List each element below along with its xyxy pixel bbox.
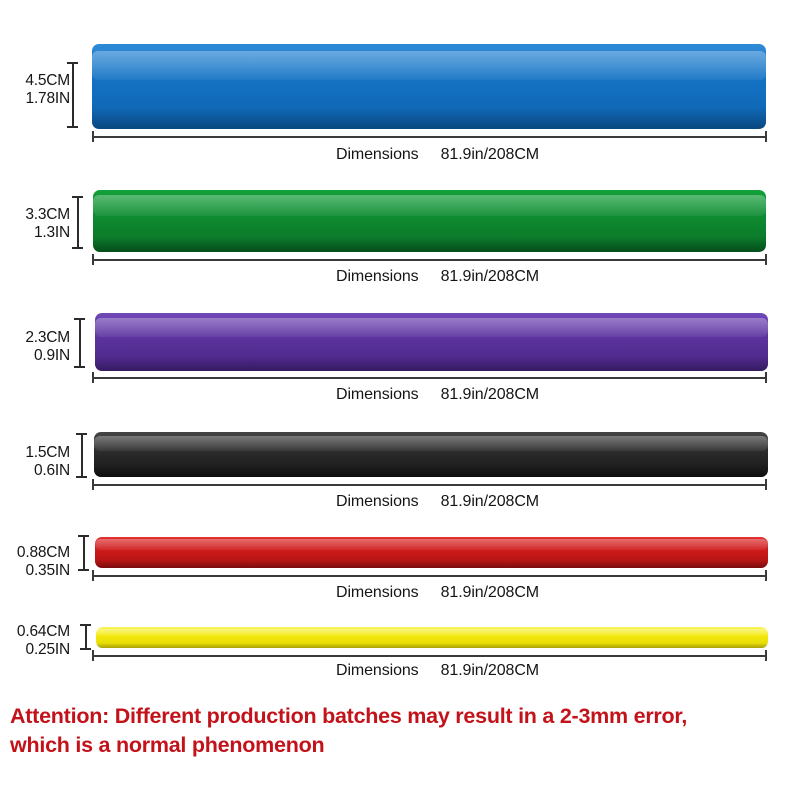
dimension-stem (85, 624, 87, 650)
height-label-in: 0.25IN (6, 641, 70, 659)
height-label-yellow: 0.64CM 0.25IN (6, 623, 70, 658)
length-dimension-line-yellow (92, 650, 767, 661)
attention-line-1: Attention: Different production batches … (10, 704, 687, 728)
width-dimension-line-yellow (80, 624, 91, 650)
dimension-cap-bottom (80, 648, 91, 650)
resistance-band-yellow (96, 627, 768, 648)
height-label-cm: 0.64CM (6, 623, 70, 641)
dimensions-caption-yellow: Dimensions81.9in/208CM (336, 662, 539, 680)
dimension-infographic: 4.5CM 1.78IN Dimensions81.9in/208CM 3.3C… (0, 0, 800, 800)
band-body (96, 627, 768, 648)
dimensions-value: 81.9in/208CM (441, 662, 539, 679)
band-group-yellow: 0.64CM 0.25IN Dimensions81.9in/208CM (0, 0, 800, 700)
dimensions-word: Dimensions (336, 662, 419, 679)
length-stem (92, 655, 767, 657)
length-cap-right (765, 650, 767, 661)
attention-note: Attention: Different production batches … (10, 702, 800, 760)
attention-line-2: which is a normal phenomenon (10, 731, 800, 760)
